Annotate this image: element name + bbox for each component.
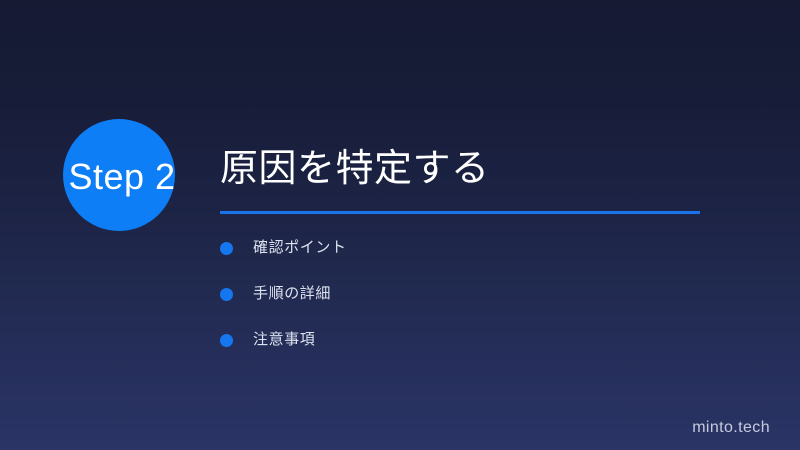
bullet-dot-icon [220,242,233,255]
list-item-label: 注意事項 [253,330,315,350]
bullet-dot-icon [220,288,233,301]
bullet-dot-icon [220,334,233,347]
list-item-label: 確認ポイント [253,238,347,258]
list-item: 注意事項 [220,330,347,350]
bullet-list: 確認ポイント 手順の詳細 注意事項 [220,238,347,376]
presentation-slide: Step 2 原因を特定する 確認ポイント 手順の詳細 注意事項 minto.t… [0,0,800,450]
title-underline-rule [220,211,700,214]
list-item-label: 手順の詳細 [253,284,331,304]
list-item: 手順の詳細 [220,284,347,304]
title-block: 原因を特定する [220,145,740,193]
list-item: 確認ポイント [220,238,347,258]
footer-brand: minto.tech [692,418,770,438]
step-badge-label: Step 2 [46,155,198,199]
slide-title: 原因を特定する [220,145,740,193]
